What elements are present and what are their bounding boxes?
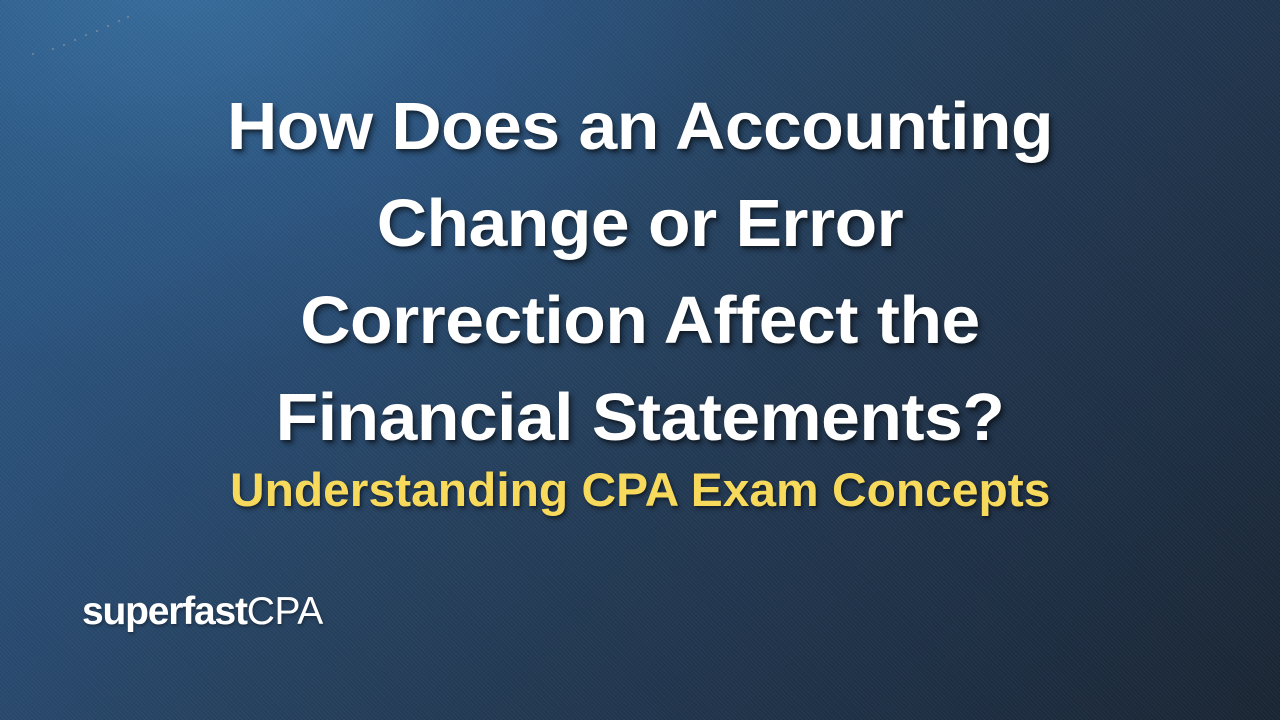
brand-logo-bold-part: superfast — [82, 592, 247, 631]
title-line-1: How Does an Accounting — [22, 78, 1258, 175]
page-title: How Does an Accounting Change or Error C… — [0, 78, 1280, 466]
brand-logo-light-part: CPA — [247, 592, 323, 631]
title-line-2: Change or Error — [22, 175, 1258, 272]
title-card: How Does an Accounting Change or Error C… — [0, 0, 1280, 720]
subtitle: Understanding CPA Exam Concepts — [0, 462, 1280, 518]
subtitle-text: Understanding CPA Exam Concepts — [230, 462, 1050, 518]
card-content: How Does an Accounting Change or Error C… — [0, 0, 1280, 720]
title-line-4: Financial Statements? — [22, 369, 1258, 466]
brand-logo: superfastCPA — [82, 592, 323, 631]
title-line-3: Correction Affect the — [22, 272, 1258, 369]
